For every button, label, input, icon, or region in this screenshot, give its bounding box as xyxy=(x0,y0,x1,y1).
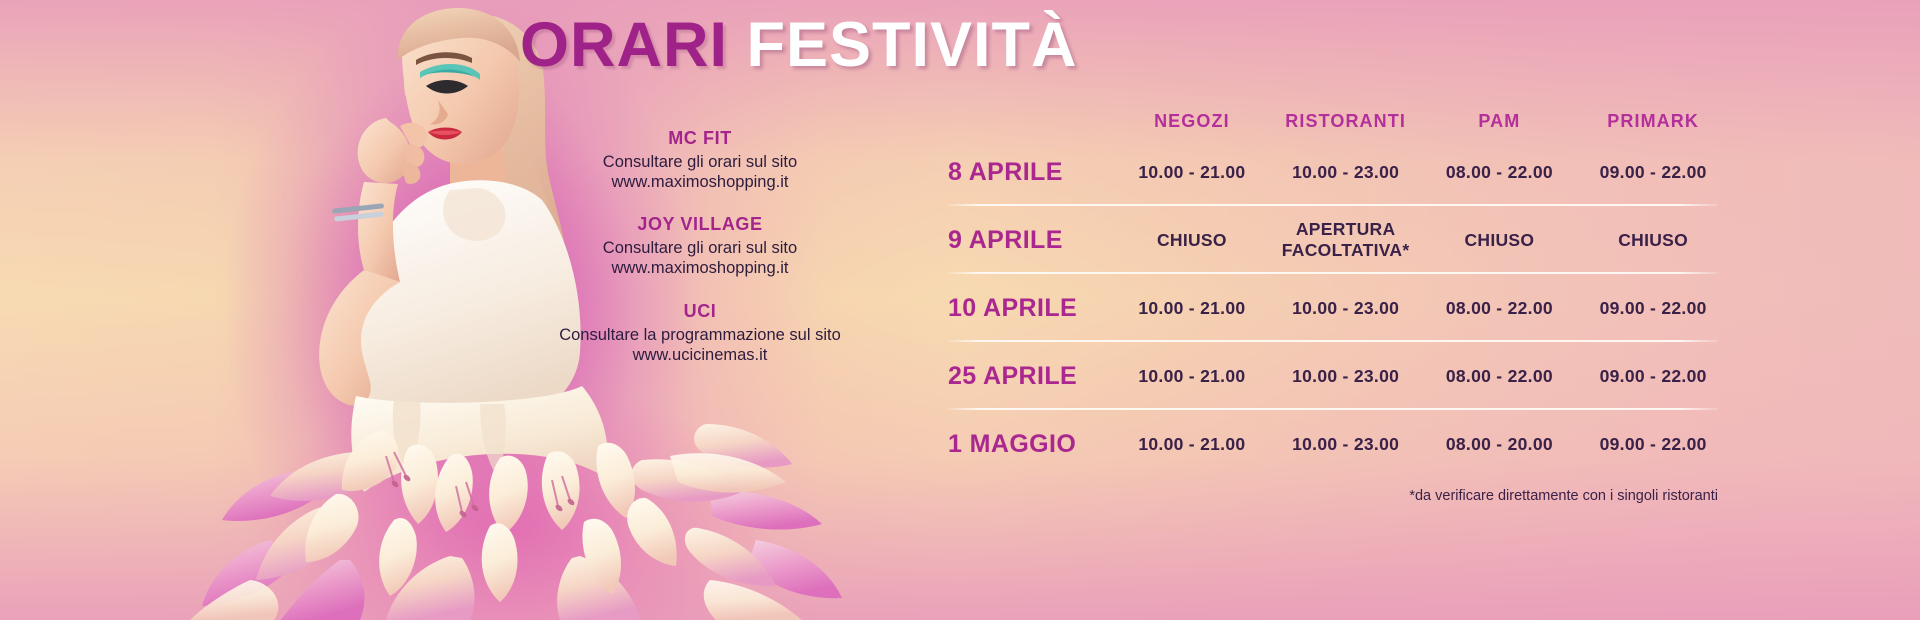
cell-9-aprile-ristoranti: APERTURA FACOLTATIVA* xyxy=(1269,219,1423,261)
info-line-mc-fit-1: Consultare gli orari sul sito xyxy=(505,152,895,172)
column-header-ristoranti: RISTORANTI xyxy=(1269,111,1423,132)
table-row: 9 APRILE CHIUSO APERTURA FACOLTATIVA* CH… xyxy=(940,206,1730,274)
table-footnote: *da verificare direttamente con i singol… xyxy=(940,488,1730,504)
cell-9-aprile-pam: CHIUSO xyxy=(1423,230,1577,251)
cell-1-maggio-negozi: 10.00 - 21.00 xyxy=(1115,434,1269,455)
cell-25-aprile-negozi: 10.00 - 21.00 xyxy=(1115,366,1269,387)
cell-1-maggio-pam: 08.00 - 20.00 xyxy=(1423,434,1577,455)
table-row: 8 APRILE 10.00 - 21.00 10.00 - 23.00 08.… xyxy=(940,138,1730,206)
row-date-8-aprile: 8 APRILE xyxy=(940,158,1115,187)
page-title: ORARI FESTIVITÀ xyxy=(520,14,1160,77)
holiday-hours-table: NEGOZI RISTORANTI PAM PRIMARK 8 APRILE 1… xyxy=(940,104,1730,478)
cell-1-maggio-primark: 09.00 - 22.00 xyxy=(1576,434,1730,455)
column-header-pam: PAM xyxy=(1423,111,1577,132)
info-title-mc-fit: MC FIT xyxy=(505,128,895,149)
partner-info-list: MC FIT Consultare gli orari sul sito www… xyxy=(505,128,895,387)
row-date-10-aprile: 10 APRILE xyxy=(940,294,1115,323)
info-block-mc-fit: MC FIT Consultare gli orari sul sito www… xyxy=(505,128,895,192)
cell-8-aprile-pam: 08.00 - 22.00 xyxy=(1423,162,1577,183)
info-link-joy-village[interactable]: www.maximoshopping.it xyxy=(505,258,895,278)
cell-10-aprile-ristoranti: 10.00 - 23.00 xyxy=(1269,298,1423,319)
cell-9-aprile-primark: CHIUSO xyxy=(1576,230,1730,251)
row-date-9-aprile: 9 APRILE xyxy=(940,226,1115,255)
info-line-joy-village-1: Consultare gli orari sul sito xyxy=(505,238,895,258)
cell-9-aprile-negozi: CHIUSO xyxy=(1115,230,1269,251)
info-line-uci-1: Consultare la programmazione sul sito xyxy=(505,325,895,345)
cell-8-aprile-primark: 09.00 - 22.00 xyxy=(1576,162,1730,183)
title-part-festivita: FESTIVITÀ xyxy=(747,10,1078,80)
cell-8-aprile-ristoranti: 10.00 - 23.00 xyxy=(1269,162,1423,183)
title-part-orari: ORARI xyxy=(520,10,728,80)
info-link-uci[interactable]: www.ucicinemas.it xyxy=(505,345,895,365)
table-header-row: NEGOZI RISTORANTI PAM PRIMARK xyxy=(940,104,1730,138)
cell-1-maggio-ristoranti: 10.00 - 23.00 xyxy=(1269,434,1423,455)
cell-25-aprile-ristoranti: 10.00 - 23.00 xyxy=(1269,366,1423,387)
info-block-joy-village: JOY VILLAGE Consultare gli orari sul sit… xyxy=(505,214,895,278)
row-date-1-maggio: 1 MAGGIO xyxy=(940,430,1115,459)
table-row: 1 MAGGIO 10.00 - 21.00 10.00 - 23.00 08.… xyxy=(940,410,1730,478)
table-row: 10 APRILE 10.00 - 21.00 10.00 - 23.00 08… xyxy=(940,274,1730,342)
cell-10-aprile-primark: 09.00 - 22.00 xyxy=(1576,298,1730,319)
cell-25-aprile-pam: 08.00 - 22.00 xyxy=(1423,366,1577,387)
info-link-mc-fit[interactable]: www.maximoshopping.it xyxy=(505,172,895,192)
table-row: 25 APRILE 10.00 - 21.00 10.00 - 23.00 08… xyxy=(940,342,1730,410)
cell-8-aprile-negozi: 10.00 - 21.00 xyxy=(1115,162,1269,183)
column-header-primark: PRIMARK xyxy=(1576,111,1730,132)
info-title-joy-village: JOY VILLAGE xyxy=(505,214,895,235)
cell-10-aprile-pam: 08.00 - 22.00 xyxy=(1423,298,1577,319)
row-date-25-aprile: 25 APRILE xyxy=(940,362,1115,391)
cell-25-aprile-primark: 09.00 - 22.00 xyxy=(1576,366,1730,387)
promo-banner: ORARI FESTIVITÀ MC FIT Consultare gli or… xyxy=(0,0,1920,620)
info-title-uci: UCI xyxy=(505,301,895,322)
column-header-negozi: NEGOZI xyxy=(1115,111,1269,132)
cell-10-aprile-negozi: 10.00 - 21.00 xyxy=(1115,298,1269,319)
info-block-uci: UCI Consultare la programmazione sul sit… xyxy=(505,301,895,365)
